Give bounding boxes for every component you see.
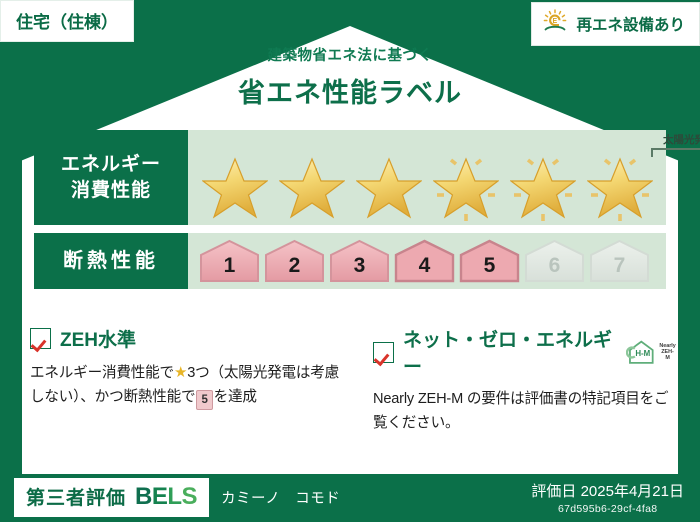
zeh-body-part2: 3つ（太陽光発電: [187, 365, 296, 381]
evaluation-date-value: 2025年4月21日: [581, 483, 684, 500]
zeh-criteria-column: ZEH水準 エネルギー消費性能で★3つ（太陽光発電は考慮しない）、かつ断熱性能で…: [30, 325, 353, 435]
energy-label-document: パワステラ 住宅（住棟） E 再エネ設備あり 建: [0, 0, 700, 522]
netzero-criteria-column: ネット・ゼロ・エネルギー H-M Nearly ZEH-M Nearly ZEH…: [353, 325, 676, 435]
energy-performance-value: 太陽光発電(自家消費)分: [188, 130, 666, 225]
solar-sun-icon: E: [542, 9, 568, 38]
nearly-zehm-logo: H-M Nearly ZEH-M: [626, 338, 676, 366]
title-subtitle: 建築物省エネ法に基づく: [0, 44, 700, 65]
house-type-tag: 住宅（住棟）: [0, 0, 134, 42]
insulation-grade-badge: 7: [588, 238, 651, 284]
svg-text:E: E: [553, 18, 558, 25]
insulation-grade-badge: 1: [198, 238, 261, 284]
insulation-grade-strip: 1 2 3 4: [188, 233, 666, 289]
zeh-body-part1: エネルギー消費性能で: [30, 365, 174, 381]
energy-performance-row: エネルギー 消費性能 太陽光発電(自家消費)分: [34, 130, 666, 225]
bels-certification-box: 第三者評価 BELS: [14, 478, 209, 517]
insulation-grade-number: 4: [419, 254, 431, 284]
footer-meta: 評価日 2025年4月21日 67d595b6-29cf-4fa8: [531, 480, 684, 515]
netzero-criteria-body: Nearly ZEH-M の要件は評価書の特記項目をご覧ください。: [373, 388, 676, 435]
criteria-section: ZEH水準 エネルギー消費性能で★3つ（太陽光発電は考慮しない）、かつ断熱性能で…: [30, 325, 676, 435]
bels-logo: BELS: [135, 483, 197, 511]
evaluation-date: 評価日 2025年4月21日: [531, 480, 684, 501]
energy-star: [279, 151, 345, 221]
third-party-eval-label: 第三者評価: [26, 483, 126, 510]
project-name: カミーノ コモド: [221, 487, 340, 508]
zeh-criteria-header: ZEH水準: [30, 325, 353, 352]
title-block: 建築物省エネ法に基づく 省エネ性能ラベル: [0, 44, 700, 110]
logo-caption-line1: Nearly: [659, 343, 675, 349]
insulation-performance-label: 断熱性能: [34, 233, 188, 289]
insulation-grade-number: 7: [614, 254, 626, 284]
energy-star-solar: [510, 151, 576, 221]
energy-stars-strip: [188, 151, 666, 223]
inline-house-badge: 5: [196, 390, 212, 411]
performance-area: エネルギー 消費性能 太陽光発電(自家消費)分: [34, 130, 666, 297]
inline-star-icon: ★: [174, 364, 187, 381]
energy-star: [202, 151, 268, 221]
insulation-performance-row: 断熱性能 1 2: [34, 233, 666, 289]
insulation-grade-badge: 6: [523, 238, 586, 284]
renewable-equipment-badge: E 再エネ設備あり: [531, 2, 700, 46]
insulation-grade-badge-achieved: 5: [458, 238, 521, 284]
energy-label-line2: 消費性能: [71, 178, 151, 203]
insulation-grade-badge: 4: [393, 238, 456, 284]
energy-star: [356, 151, 422, 221]
insulation-grade-number: 6: [549, 254, 561, 284]
insulation-grade-number: 3: [354, 254, 366, 284]
insulation-grade-number: 2: [289, 254, 301, 284]
bels-letter: B: [135, 483, 152, 510]
netzero-checkbox: [373, 342, 394, 363]
evaluation-date-label: 評価日: [531, 483, 576, 500]
bels-letter: S: [182, 483, 198, 510]
zeh-body-part4: を達成: [214, 389, 257, 405]
insulation-performance-value: 1 2 3 4: [188, 233, 666, 289]
insulation-grade-badge: 3: [328, 238, 391, 284]
insulation-grade-badge: 2: [263, 238, 326, 284]
zeh-criteria-title: ZEH水準: [60, 325, 136, 352]
footer-bar: 第三者評価 BELS カミーノ コモド 評価日 2025年4月21日 67d59…: [0, 472, 700, 522]
energy-star-solar: [433, 151, 499, 221]
energy-label-line1: エネルギー: [61, 152, 161, 177]
insulation-grade-number: 5: [484, 254, 496, 284]
energy-star-solar: [587, 151, 653, 221]
netzero-criteria-header: ネット・ゼロ・エネルギー H-M Nearly ZEH-M: [373, 325, 676, 379]
energy-performance-label: エネルギー 消費性能: [34, 130, 188, 225]
bels-letter: L: [167, 483, 181, 510]
bels-letter: E: [152, 483, 168, 510]
nearly-zehm-caption: Nearly ZEH-M: [659, 343, 676, 362]
zeh-criteria-body: エネルギー消費性能で★3つ（太陽光発電は考慮しない）、かつ断熱性能で5を達成: [30, 361, 353, 410]
solar-annotation-label: 太陽光発電(自家消費)分: [663, 132, 700, 147]
logo-caption-line2: ZEH-M: [661, 349, 674, 361]
svg-text:H-M: H-M: [635, 349, 650, 358]
document-id: 67d595b6-29cf-4fa8: [531, 503, 684, 515]
zeh-checkbox: [30, 328, 51, 349]
insulation-grade-number: 1: [224, 254, 236, 284]
netzero-criteria-title: ネット・ゼロ・エネルギー: [403, 325, 617, 379]
page-title: 省エネ性能ラベル: [0, 71, 700, 110]
renewable-badge-label: 再エネ設備あり: [576, 13, 685, 35]
